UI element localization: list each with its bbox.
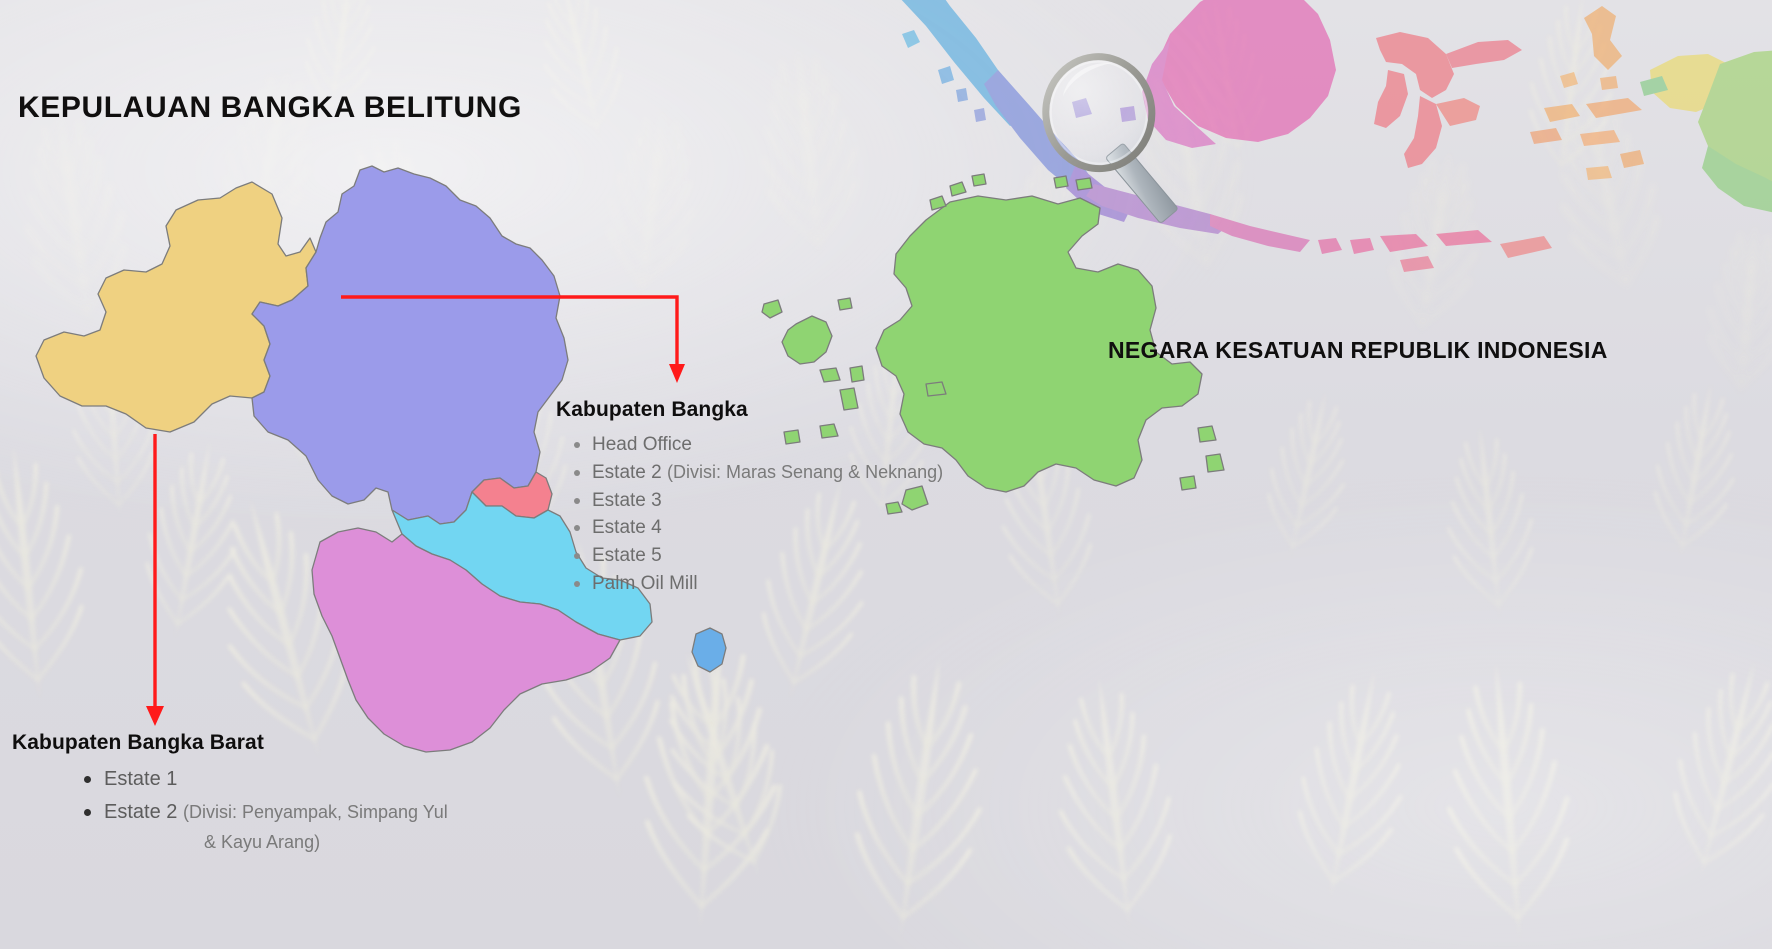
facility-label: Estate 1: [104, 768, 177, 790]
facility-label: Estate 5: [592, 545, 662, 566]
island-sulawesi-n: [1446, 40, 1522, 68]
facility-list-bangka: Head Office Estate 2 (Divisi: Maras Sena…: [556, 431, 943, 598]
isle-belitung-w4: [820, 368, 840, 382]
region-lepar-pongok: [692, 628, 726, 672]
list-item: Estate 3: [592, 487, 943, 515]
callout-kabupaten-bangka-barat: Kabupaten Bangka Barat Estate 1 Estate 2…: [12, 731, 448, 856]
isle-belitung-w1: [782, 316, 832, 364]
list-item: Estate 1: [104, 763, 448, 796]
isle-belitung-e1: [1198, 426, 1216, 442]
island-sulawesi-se: [1436, 98, 1480, 126]
isle-enggano: [974, 108, 986, 122]
isle-belitung-n4: [1054, 176, 1068, 188]
facility-list-bangka-barat: Estate 1 Estate 2 (Divisi: Penyampak, Si…: [12, 763, 448, 856]
isle-siberut: [956, 88, 968, 102]
isle-belitung-w9: [926, 382, 946, 396]
island-sulawesi: [1374, 32, 1454, 168]
island-kei: [1586, 166, 1612, 180]
isle-belitung-e2: [1206, 454, 1224, 472]
isle-belitung-n3: [972, 174, 986, 186]
list-item: Estate 2 (Divisi: Penyampak, Simpang Yul…: [104, 796, 448, 856]
facility-divisi-line2: & Kayu Arang): [104, 829, 448, 856]
slide-canvas: KEPULAUAN BANGKA BELITUNG NEGARA KESATUA…: [0, 0, 1772, 949]
page-title: KEPULAUAN BANGKA BELITUNG: [18, 91, 522, 125]
list-item: Head Office: [592, 431, 943, 459]
island-maluku-sm3: [1530, 128, 1562, 144]
facility-label: Head Office: [592, 434, 692, 455]
country-title: NEGARA KESATUAN REPUBLIK INDONESIA: [1108, 337, 1608, 364]
island-maluku-sm2: [1600, 76, 1618, 90]
callout-title-bangka: Kabupaten Bangka: [556, 398, 943, 422]
list-item: Estate 5: [592, 542, 943, 570]
island-flores: [1436, 230, 1492, 246]
isle-belitung-small: [1120, 106, 1136, 122]
island-bali: [1318, 238, 1342, 254]
facility-label: Estate 3: [592, 490, 662, 511]
island-maluku-sm4: [1580, 130, 1620, 146]
region-bangka: [252, 166, 568, 524]
facility-divisi: (Divisi: Penyampak, Simpang Yul: [183, 802, 448, 822]
list-item: Estate 4: [592, 514, 943, 542]
facility-divisi: (Divisi: Maras Senang & Neknang): [667, 462, 943, 482]
facility-label: Palm Oil Mill: [592, 573, 698, 594]
list-item: Palm Oil Mill: [592, 570, 943, 598]
island-timor: [1500, 236, 1552, 258]
isle-mentawai: [938, 66, 954, 84]
island-seram: [1586, 98, 1642, 118]
list-item: Estate 2 (Divisi: Maras Senang & Neknang…: [592, 459, 943, 487]
isle-belitung-w2: [762, 300, 782, 318]
facility-label: Estate 4: [592, 517, 662, 538]
isle-bangka-small: [1072, 98, 1092, 118]
island-aru: [1620, 150, 1644, 168]
isle-belitung-n5: [1076, 178, 1092, 190]
isle-belitung-n2: [950, 182, 966, 196]
island-maluku-sm1: [1560, 72, 1578, 88]
isle-nias: [902, 30, 920, 48]
callout-kabupaten-bangka: Kabupaten Bangka Head Office Estate 2 (D…: [556, 398, 943, 598]
callout-title-bangka-barat: Kabupaten Bangka Barat: [12, 731, 448, 755]
island-lombok: [1350, 238, 1374, 254]
isle-belitung-w5: [850, 366, 864, 382]
isle-belitung-e3: [1180, 476, 1196, 490]
island-sumbawa: [1380, 234, 1428, 252]
island-sumba: [1400, 256, 1434, 272]
facility-label: Estate 2: [592, 462, 662, 483]
facility-label: Estate 2: [104, 801, 177, 823]
island-buru: [1544, 104, 1580, 122]
island-halmahera: [1584, 6, 1622, 70]
isle-belitung-w3: [838, 298, 852, 310]
